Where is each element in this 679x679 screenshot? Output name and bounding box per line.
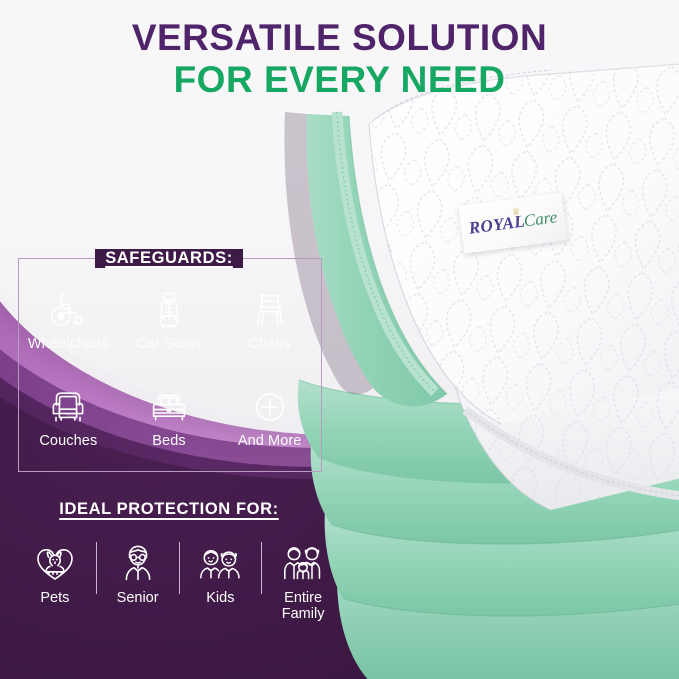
plus-circle-icon [247,386,293,428]
protection-label: Kids [206,590,234,606]
protection-item-pets: Pets [14,540,96,606]
wheelchair-icon [45,289,91,331]
protection-label: Entire Family [262,590,344,622]
safeguard-label: Chairs [248,336,291,352]
safeguard-item-chairs: Chairs [219,272,320,369]
safeguard-label: Wheelchairs [28,336,109,352]
protection-label: Senior [117,590,159,606]
crown-icon: ♕ [512,207,521,217]
safeguard-item-and-more: And More [219,369,320,466]
safeguards-title-wrap: SAFEGUARDS: [18,246,320,270]
safeguard-item-beds: Beds [119,369,220,466]
safeguard-label: Couches [39,433,97,449]
safeguard-item-wheelchairs: Wheelchairs [18,272,119,369]
protection-item-entire-family: Entire Family [262,540,344,622]
family-icon [281,542,325,584]
senior-icon [116,542,160,584]
ideal-protection-row: Pets Senior [14,540,344,648]
protection-item-kids: Kids [180,540,262,606]
safeguard-label: Beds [152,433,185,449]
couch-icon [45,386,91,428]
safeguards-title: SAFEGUARDS: [95,249,243,268]
pets-icon [33,542,77,584]
kids-icon [198,542,242,584]
brand-name-secondary: Care [523,207,559,231]
protection-label: Pets [40,590,69,606]
safeguards-grid: Wheelchairs Car Seats [18,272,320,466]
car-seat-icon [146,289,192,331]
chair-icon [247,289,293,331]
product-infographic: VERSATILE SOLUTION FOR EVERY NEED [0,0,679,679]
protection-item-senior: Senior [97,540,179,606]
safeguard-label: Car Seats [136,336,201,352]
safeguard-label: And More [238,433,302,449]
safeguard-item-car-seats: Car Seats [119,272,220,369]
ideal-protection-title: IDEAL PROTECTION FOR: [18,500,320,519]
bed-icon [146,386,192,428]
safeguard-item-couches: Couches [18,369,119,466]
